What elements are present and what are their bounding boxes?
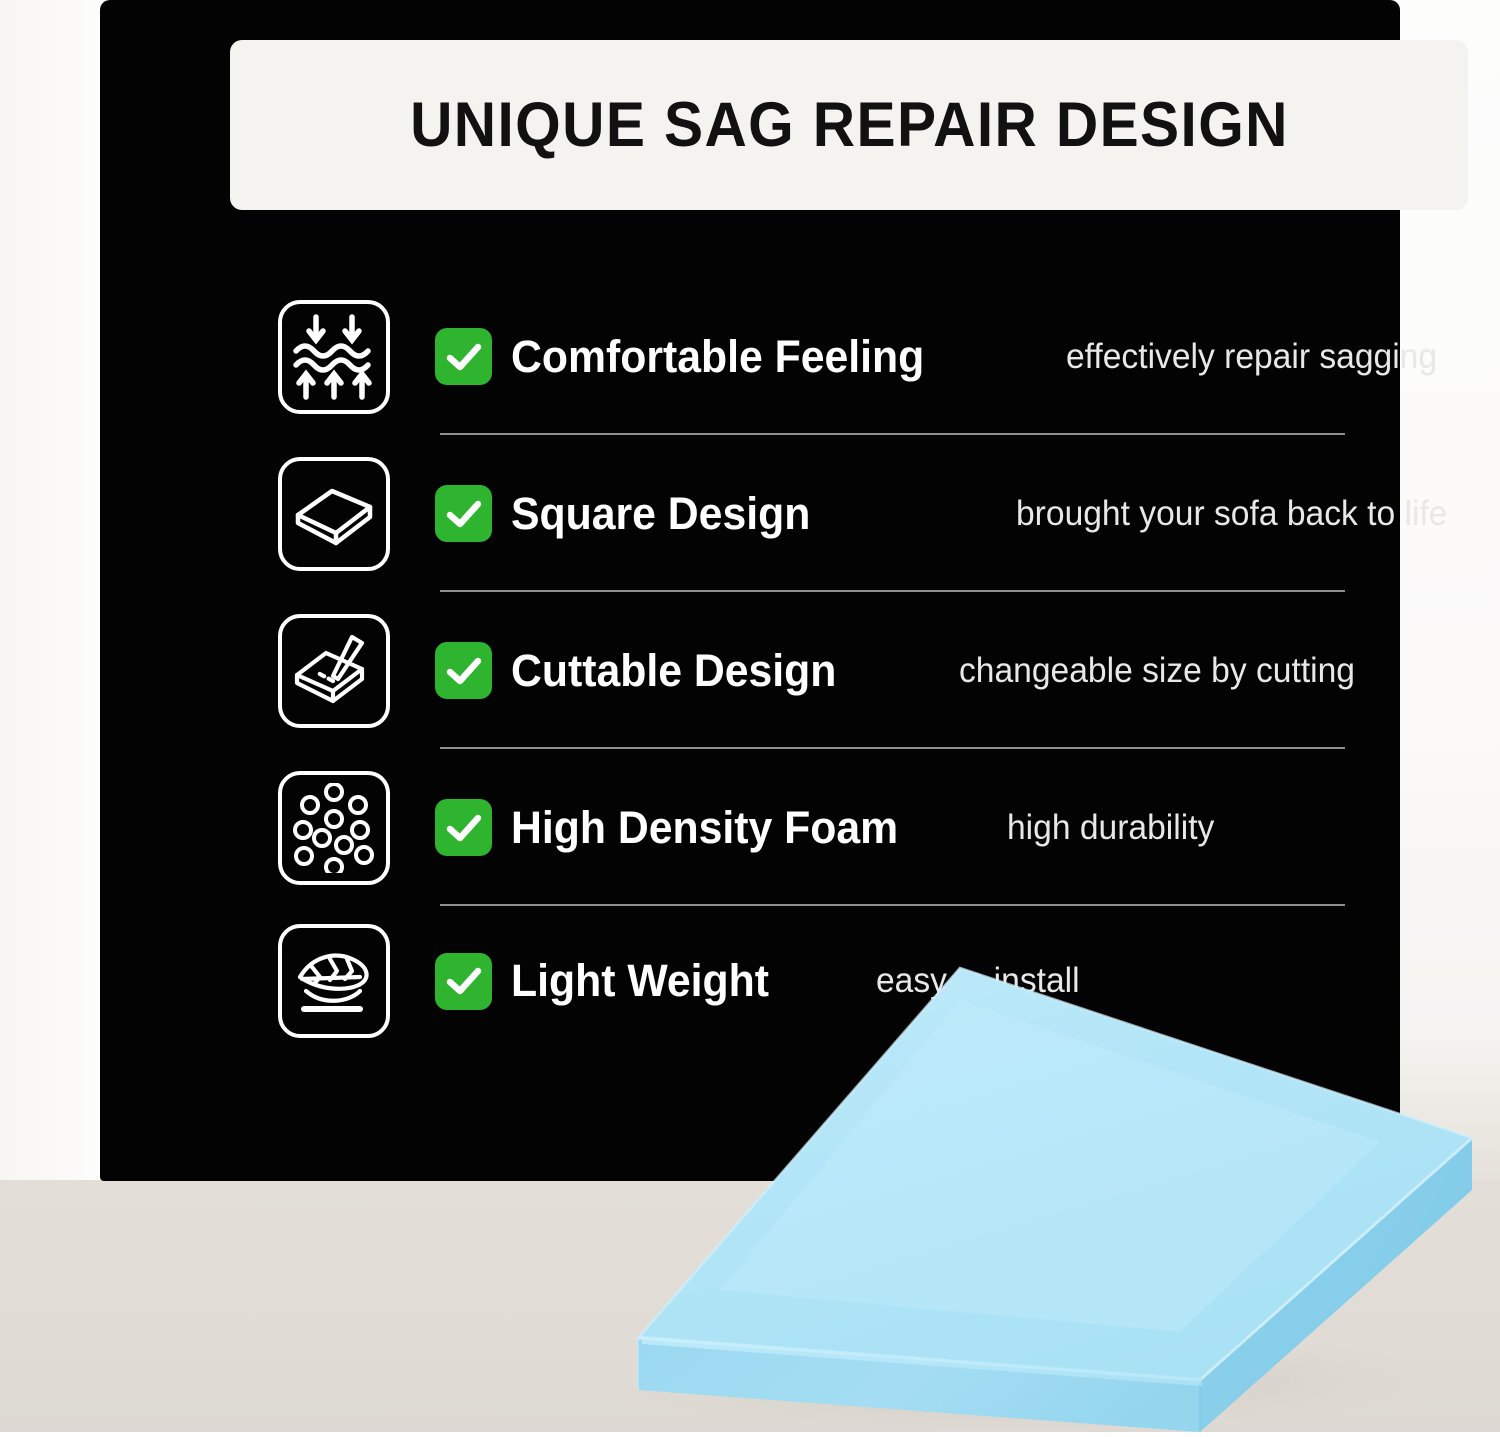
feature-title: High Density Foam	[511, 802, 898, 854]
feature-list: Comfortable Feeling effectively repair s…	[200, 278, 1400, 1056]
page-title: UNIQUE SAG REPAIR DESIGN	[410, 89, 1289, 161]
feature-row: High Density Foam high durability	[200, 749, 1400, 906]
check-icon	[435, 485, 492, 542]
background-left-gradient	[0, 0, 110, 1185]
feature-subtitle: brought your sofa back to life	[1016, 494, 1447, 534]
knife-cutting-foam-icon	[278, 614, 390, 728]
feature-row: Square Design brought your sofa back to …	[200, 435, 1400, 592]
feature-title: Comfortable Feeling	[511, 331, 924, 383]
foam-slab-icon	[278, 457, 390, 571]
check-icon	[435, 953, 492, 1010]
feature-row-body: Square Design brought your sofa back to …	[435, 485, 1466, 542]
feather-icon	[278, 924, 390, 1038]
feature-row-body: High Density Foam high durability	[435, 799, 1400, 856]
feature-subtitle: changeable size by cutting	[959, 651, 1355, 691]
foam-cells-icon	[278, 771, 390, 885]
feature-title: Cuttable Design	[511, 645, 836, 697]
check-icon	[435, 799, 492, 856]
check-icon	[435, 642, 492, 699]
feature-row-body: Light Weight easy to install	[435, 953, 1400, 1010]
feature-row-body: Cuttable Design changeable size by cutti…	[435, 642, 1400, 699]
feature-subtitle: easy to install	[876, 961, 1080, 1001]
check-icon	[435, 328, 492, 385]
background-floor	[0, 1180, 1500, 1432]
feature-row: Cuttable Design changeable size by cutti…	[200, 592, 1400, 749]
feature-subtitle: effectively repair sagging	[1066, 337, 1437, 377]
feature-row-body: Comfortable Feeling effectively repair s…	[435, 328, 1453, 385]
feature-title: Square Design	[511, 488, 810, 540]
compression-waves-icon	[278, 300, 390, 414]
feature-row: Light Weight easy to install	[200, 906, 1400, 1056]
feature-row: Comfortable Feeling effectively repair s…	[200, 278, 1400, 435]
title-card: UNIQUE SAG REPAIR DESIGN	[230, 40, 1468, 210]
feature-title: Light Weight	[511, 955, 769, 1007]
feature-panel: UNIQUE SAG REPAIR DESIGN	[100, 0, 1400, 1181]
feature-subtitle: high durability	[1007, 808, 1214, 848]
